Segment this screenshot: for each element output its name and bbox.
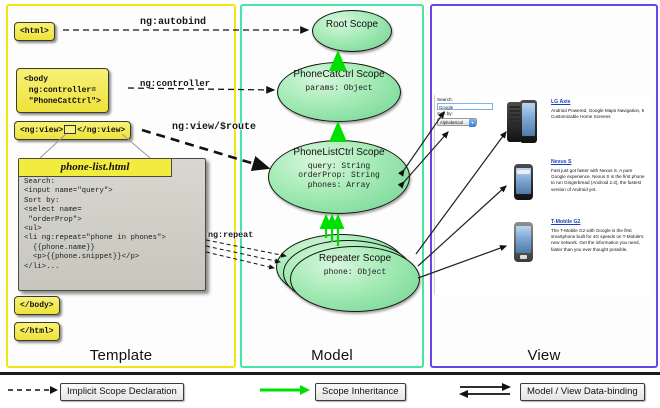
tag-html-close: </html>	[14, 322, 60, 341]
sort-label: Sort by:	[437, 111, 499, 117]
sort-select-value: Alphabetical	[440, 120, 463, 125]
phone-list: LG Axis Android Powered, Google Maps Nav…	[507, 95, 651, 275]
scope-phonelistctrl-title: PhoneListCtrl Scope	[269, 141, 409, 159]
note-title: phone-list.html	[19, 159, 172, 177]
scope-phonecatctrl-title: PhoneCatCtrl Scope	[278, 63, 400, 81]
phone-snippet: Fast just got faster with Nexus S. A pur…	[551, 168, 647, 193]
diagram-canvas: Template Model View <html> <body ng:cont…	[0, 0, 660, 405]
scope-phonelistctrl: PhoneListCtrl Scope query: String orderP…	[268, 140, 410, 214]
legend-label-implicit: Implicit Scope Declaration	[60, 383, 184, 401]
scope-repeater-props: phone: Object	[291, 268, 419, 278]
phone-info: T-Mobile G2 The T-Mobile G2 with Google …	[551, 219, 647, 253]
phone-thumbnail-t-mobile-g2	[507, 220, 537, 264]
phone-thumbnail-lg-axis	[507, 100, 537, 144]
legend-label-inheritance: Scope Inheritance	[315, 383, 406, 401]
column-label-model: Model	[242, 347, 422, 364]
tag-body-close: </body>	[14, 296, 60, 315]
tag-ngview-open: <ng:view>	[20, 126, 63, 135]
legend-glyph-inheritance	[258, 382, 312, 398]
legend-item-implicit: Implicit Scope Declaration	[60, 381, 184, 399]
phone-name-link[interactable]: LG Axis	[551, 99, 647, 106]
browser-view: Search: Google Sort by: Alphabetical ▾	[434, 95, 651, 295]
legend-label-databinding: Model / View Data-binding	[520, 383, 645, 401]
list-item[interactable]: T-Mobile G2 The T-Mobile G2 with Google …	[507, 215, 651, 275]
search-controls: Search: Google Sort by: Alphabetical ▾	[437, 97, 499, 126]
column-label-template: Template	[8, 347, 234, 364]
tag-html-open: <html>	[14, 22, 55, 41]
scope-phonecatctrl: PhoneCatCtrl Scope params: Object	[277, 62, 401, 122]
wire-label-ng-view-route: ng:view/$route	[172, 122, 256, 133]
scope-phonecatctrl-props: params: Object	[278, 84, 400, 94]
sort-select[interactable]: Alphabetical ▾	[437, 118, 477, 126]
phone-snippet: The T-Mobile G2 with Google is the first…	[551, 228, 647, 253]
note-code: Search: <input name="query"> Sort by: <s…	[24, 178, 201, 272]
legend-item-databinding: Model / View Data-binding	[520, 381, 645, 399]
list-item[interactable]: Nexus S Fast just got faster with Nexus …	[507, 155, 651, 215]
wire-label-ng-controller: ng:controller	[140, 79, 210, 89]
phone-info: Nexus S Fast just got faster with Nexus …	[551, 159, 647, 193]
tag-body-open: <body ng:controller= "PhoneCatCtrl">	[16, 68, 109, 113]
phone-name-link[interactable]: Nexus S	[551, 159, 647, 166]
scope-repeater-title: Repeater Scope	[291, 247, 419, 265]
phone-info: LG Axis Android Powered, Google Maps Nav…	[551, 99, 647, 120]
chevron-down-icon: ▾	[469, 119, 476, 127]
phone-name-link[interactable]: T-Mobile G2	[551, 219, 647, 226]
legend-item-inheritance: Scope Inheritance	[315, 381, 406, 399]
phone-thumbnail-nexus-s	[507, 160, 537, 204]
scope-root: Root Scope	[312, 10, 392, 52]
note-phone-list-html: phone-list.html Search: <input name="que…	[18, 158, 206, 291]
ngview-slot-icon	[64, 125, 76, 134]
wire-label-ng-repeat: ng:repeat	[208, 230, 253, 240]
scope-root-title: Root Scope	[313, 11, 391, 31]
legend: Implicit Scope Declaration Scope Inherit…	[0, 372, 660, 408]
search-input[interactable]: Google	[437, 103, 493, 110]
tag-ngview: <ng:view></ng:view>	[14, 121, 131, 140]
legend-glyph-databinding	[458, 382, 512, 398]
scope-repeater: Repeater Scope phone: Object	[290, 246, 420, 312]
phone-snippet: Android Powered, Google Maps Navigation,…	[551, 108, 647, 120]
wire-label-ng-autobind: ng:autobind	[140, 17, 206, 28]
tag-ngview-close: </ng:view>	[77, 126, 125, 135]
list-item[interactable]: LG Axis Android Powered, Google Maps Nav…	[507, 95, 651, 155]
legend-glyph-implicit	[6, 382, 60, 398]
column-label-view: View	[432, 347, 656, 364]
scope-phonelistctrl-props: query: String orderProp: String phones: …	[269, 162, 409, 191]
